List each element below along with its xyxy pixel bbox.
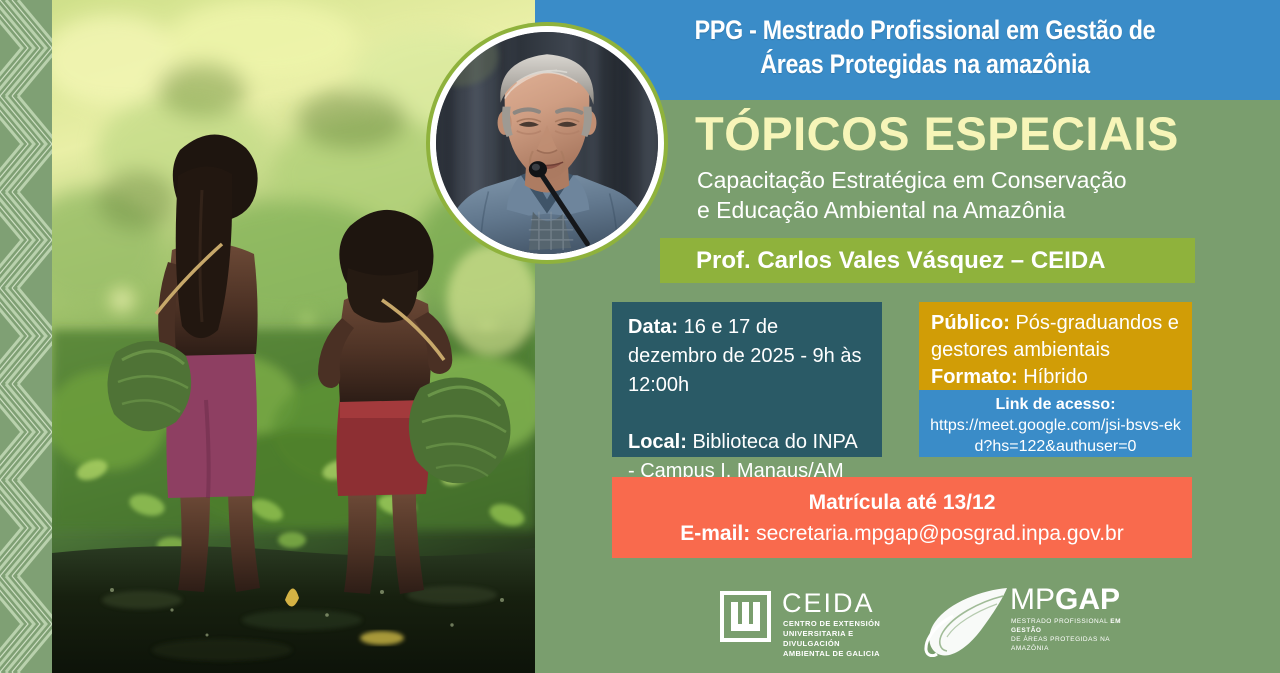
ceida-logo: CEIDA CENTRO DE EXTENSIÓN UNIVERSITARIA … <box>720 588 890 650</box>
course-title: TÓPICOS ESPECIAIS <box>695 108 1179 160</box>
zigzag-icon <box>0 0 52 673</box>
speaker-photo-illustration <box>436 32 658 254</box>
format-value: Híbrido <box>1018 366 1088 388</box>
access-link-url[interactable]: https://meet.google.com/jsi-bsvs-ekd?hs=… <box>925 415 1186 457</box>
audience-line: Público: Pós-graduandos e gestores ambie… <box>931 310 1180 364</box>
ceida-bar-base <box>731 624 760 631</box>
access-link-label: Link de acesso: <box>925 394 1186 415</box>
ceida-tagline-line2: UNIVERSITARIA E DIVULGACIÓN <box>783 629 890 649</box>
portrait-image <box>436 32 658 254</box>
ceida-tagline-line3: AMBIENTAL DE GALICIA <box>783 649 890 659</box>
mpgap-wordmark: MPGAP <box>1010 584 1120 616</box>
email-value[interactable]: secretaria.mpgap@posgrad.inpa.gov.br <box>750 522 1123 545</box>
format-label: Formato: <box>931 366 1018 388</box>
enrollment-email-line: E-mail: secretaria.mpgap@posgrad.inpa.go… <box>612 518 1192 550</box>
enrollment-box: Matrícula até 13/12 E-mail: secretaria.m… <box>612 477 1192 558</box>
portrait-white-ring <box>430 26 664 260</box>
poster-root: PPG - Mestrado Profissional em Gestão de… <box>0 0 1280 673</box>
mpgap-logo: MPGAP MESTRADO PROFISSIONAL EM GESTÃO DE… <box>923 582 1123 657</box>
audience-label: Público: <box>931 312 1010 334</box>
enrollment-deadline: Matrícula até 13/12 <box>612 488 1192 518</box>
zigzag-pattern-strip <box>0 0 52 673</box>
course-subtitle: Capacitação Estratégica em Conservação e… <box>697 165 1127 225</box>
mpgap-tagline-line1-light: MESTRADO PROFISSIONAL <box>1011 618 1110 625</box>
mpgap-tagline-line1: MESTRADO PROFISSIONAL EM GESTÃO <box>1011 617 1123 635</box>
ceida-tagline: CENTRO DE EXTENSIÓN UNIVERSITARIA E DIVU… <box>783 619 890 659</box>
ceida-wordmark: CEIDA <box>782 588 875 618</box>
program-title: PPG - Mestrado Profissional em Gestão de… <box>667 13 1183 81</box>
mpgap-word-gap: GAP <box>1055 583 1120 616</box>
mpgap-tagline: MESTRADO PROFISSIONAL EM GESTÃO DE ÁREAS… <box>1011 617 1123 653</box>
date-line: Data: 16 e 17 de dezembro de 2025 - 9h à… <box>628 313 866 400</box>
professor-name: Prof. Carlos Vales Vásquez – CEIDA <box>696 247 1106 275</box>
date-location-box: Data: 16 e 17 de dezembro de 2025 - 9h à… <box>612 302 882 457</box>
ceida-tagline-line1: CENTRO DE EXTENSIÓN <box>783 619 890 629</box>
course-subtitle-line1: Capacitação Estratégica em Conservação <box>697 165 1127 195</box>
ceida-mark-icon <box>720 591 771 642</box>
date-label: Data: <box>628 316 678 338</box>
format-line: Formato: Híbrido <box>931 364 1180 391</box>
program-title-line2: Áreas Protegidas na amazônia <box>667 47 1183 81</box>
mpgap-word-mp: MP <box>1010 583 1055 616</box>
email-label: E-mail: <box>680 522 750 545</box>
location-label: Local: <box>628 431 687 453</box>
access-link-box[interactable]: Link de acesso: https://meet.google.com/… <box>919 390 1192 457</box>
professor-band: Prof. Carlos Vales Vásquez – CEIDA <box>660 238 1195 283</box>
leaf-icon <box>923 582 1009 657</box>
course-subtitle-line2: e Educação Ambiental na Amazônia <box>697 195 1127 225</box>
speaker-portrait <box>426 22 668 264</box>
program-title-line1: PPG - Mestrado Profissional em Gestão de <box>667 13 1183 47</box>
audience-format-box: Público: Pós-graduandos e gestores ambie… <box>919 302 1192 390</box>
mpgap-tagline-line2: DE ÁREAS PROTEGIDAS NA AMAZÔNIA <box>1011 635 1123 653</box>
